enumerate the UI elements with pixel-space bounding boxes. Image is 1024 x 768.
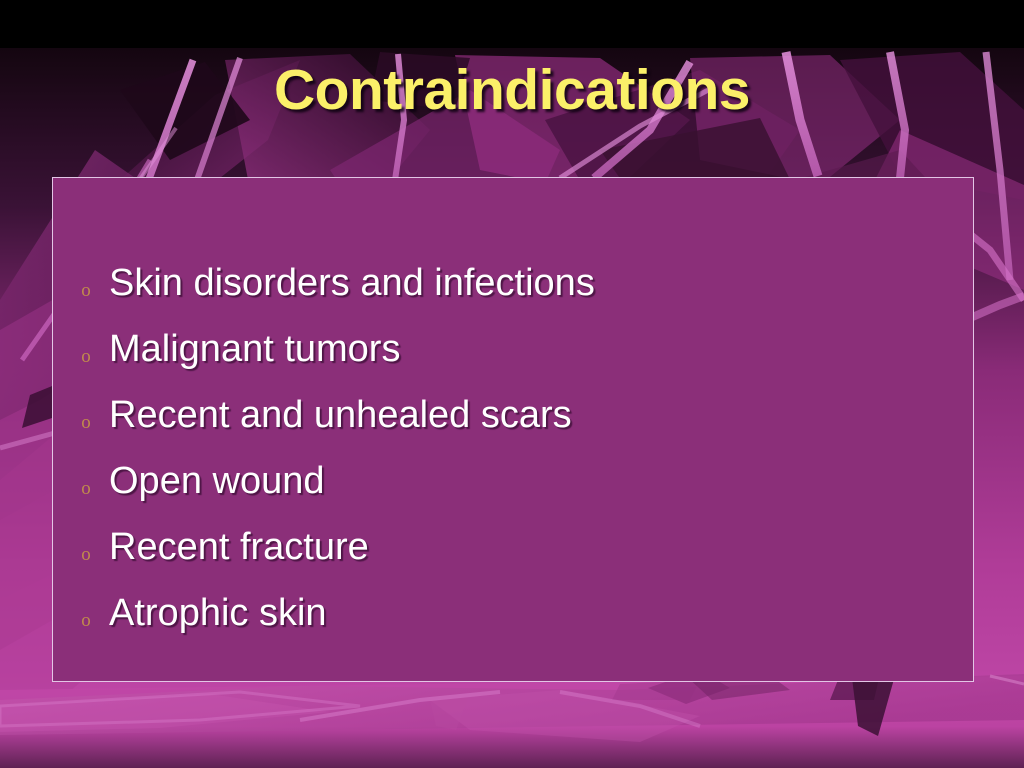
list-item-label: Recent and unhealed scars [109, 396, 572, 434]
bullet-circle-icon: o [63, 413, 109, 432]
bullet-circle-icon: o [63, 545, 109, 564]
bullet-circle-icon: o [63, 347, 109, 366]
list-item: o Skin disorders and infections [53, 250, 973, 316]
list-item-label: Skin disorders and infections [109, 264, 595, 302]
bullet-circle-icon: o [63, 611, 109, 630]
content-placeholder-box: o Skin disorders and infections o Malign… [52, 177, 974, 682]
presentation-slide: Contraindications o Skin disorders and i… [0, 0, 1024, 768]
list-item: o Malignant tumors [53, 316, 973, 382]
list-item-label: Malignant tumors [109, 330, 400, 368]
list-item-label: Open wound [109, 462, 325, 500]
list-item-label: Recent fracture [109, 528, 369, 566]
list-item: o Recent fracture [53, 514, 973, 580]
bullet-circle-icon: o [63, 479, 109, 498]
list-item: o Recent and unhealed scars [53, 382, 973, 448]
list-item-label: Atrophic skin [109, 594, 327, 632]
list-item: o Open wound [53, 448, 973, 514]
bullet-list: o Skin disorders and infections o Malign… [53, 250, 973, 646]
bullet-circle-icon: o [63, 281, 109, 300]
list-item: o Atrophic skin [53, 580, 973, 646]
slide-title: Contraindications [0, 60, 1024, 120]
